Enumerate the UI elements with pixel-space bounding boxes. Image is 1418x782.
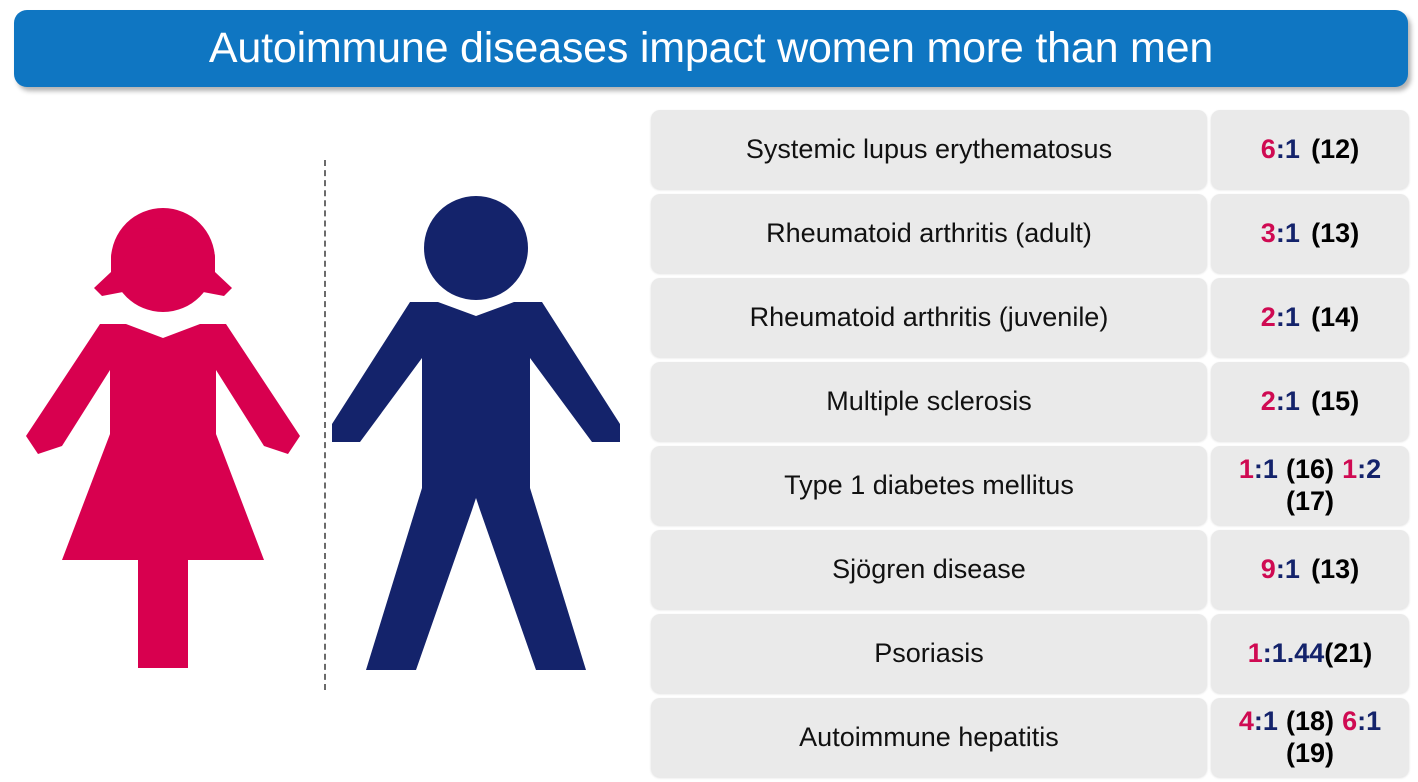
disease-label: Type 1 diabetes mellitus xyxy=(784,470,1074,501)
table-row[interactable]: Rheumatoid arthritis (juvenile) 2:1(14) xyxy=(651,278,1409,357)
disease-label: Sjögren disease xyxy=(832,554,1026,585)
female-person-icon xyxy=(18,188,308,688)
disease-name-cell[interactable]: Rheumatoid arthritis (juvenile) xyxy=(651,278,1207,357)
ratio-male-part: :1 xyxy=(1276,386,1300,416)
ratio-male-part-second: :1 xyxy=(1357,706,1381,736)
table-row[interactable]: Autoimmune hepatitis 4:1(18)6:1 (19) xyxy=(651,698,1409,777)
disease-name-cell[interactable]: Psoriasis xyxy=(651,614,1207,693)
ratio-male-part-second: :2 xyxy=(1357,454,1381,484)
ratio-male-part: :1 xyxy=(1276,134,1300,164)
ratio-male-part: :1 xyxy=(1276,554,1300,584)
ratio-value: 1:1(16)1:2 (17) xyxy=(1217,454,1403,518)
ratio-female-part-second: 1 xyxy=(1342,454,1357,484)
ratio-female-part: 1 xyxy=(1239,454,1254,484)
disease-label: Rheumatoid arthritis (juvenile) xyxy=(750,302,1109,333)
ratio-reference: (16) xyxy=(1286,454,1334,484)
disease-label: Rheumatoid arthritis (adult) xyxy=(766,218,1092,249)
ratio-female-part: 1 xyxy=(1248,638,1263,668)
male-person-icon xyxy=(326,188,626,688)
vertical-dashed-divider xyxy=(324,160,326,690)
ratio-cell[interactable]: 3:1(13) xyxy=(1211,194,1409,273)
ratio-reference: (14) xyxy=(1311,302,1359,332)
title-banner: Autoimmune diseases impact women more th… xyxy=(14,10,1408,87)
disease-name-cell[interactable]: Sjögren disease xyxy=(651,530,1207,609)
ratio-reference-second: (19) xyxy=(1286,738,1334,768)
ratio-female-part: 4 xyxy=(1239,706,1254,736)
ratio-cell[interactable]: 9:1(13) xyxy=(1211,530,1409,609)
table-row[interactable]: Systemic lupus erythematosus 6:1(12) xyxy=(651,110,1409,189)
disease-label: Psoriasis xyxy=(874,638,984,669)
disease-name-cell[interactable]: Multiple sclerosis xyxy=(651,362,1207,441)
ratio-female-part-second: 6 xyxy=(1342,706,1357,736)
ratio-male-part: :1 xyxy=(1254,454,1278,484)
table-row[interactable]: Multiple sclerosis 2:1(15) xyxy=(651,362,1409,441)
disease-name-cell[interactable]: Autoimmune hepatitis xyxy=(651,698,1207,777)
table-row[interactable]: Rheumatoid arthritis (adult) 3:1(13) xyxy=(651,194,1409,273)
ratio-male-part: :1.44 xyxy=(1263,638,1325,668)
disease-name-cell[interactable]: Type 1 diabetes mellitus xyxy=(651,446,1207,525)
ratio-reference: (21) xyxy=(1324,638,1372,668)
ratio-cell[interactable]: 2:1(15) xyxy=(1211,362,1409,441)
slide-root: Autoimmune diseases impact women more th… xyxy=(0,0,1418,782)
table-row[interactable]: Sjögren disease 9:1(13) xyxy=(651,530,1409,609)
disease-label: Autoimmune hepatitis xyxy=(799,722,1059,753)
ratio-reference-second: (17) xyxy=(1286,486,1334,516)
disease-name-cell[interactable]: Rheumatoid arthritis (adult) xyxy=(651,194,1207,273)
disease-name-cell[interactable]: Systemic lupus erythematosus xyxy=(651,110,1207,189)
ratio-value: 4:1(18)6:1 (19) xyxy=(1217,706,1403,770)
ratio-cell[interactable]: 2:1(14) xyxy=(1211,278,1409,357)
ratio-female-part: 9 xyxy=(1261,554,1276,584)
ratio-reference: (12) xyxy=(1311,134,1359,164)
ratio-female-part: 3 xyxy=(1261,218,1276,248)
table-row[interactable]: Type 1 diabetes mellitus 1:1(16)1:2 (17) xyxy=(651,446,1409,525)
ratio-male-part: :1 xyxy=(1254,706,1278,736)
ratio-value: 2:1(15) xyxy=(1217,386,1403,418)
table-row[interactable]: Psoriasis 1:1.44(21) xyxy=(651,614,1409,693)
ratio-reference: (15) xyxy=(1311,386,1359,416)
ratio-cell[interactable]: 4:1(18)6:1 (19) xyxy=(1211,698,1409,777)
ratio-value: 9:1(13) xyxy=(1217,554,1403,586)
gender-figures-panel xyxy=(0,96,648,782)
ratio-value: 2:1(14) xyxy=(1217,302,1403,334)
ratio-male-part: :1 xyxy=(1276,302,1300,332)
ratio-cell[interactable]: 1:1(16)1:2 (17) xyxy=(1211,446,1409,525)
ratio-male-part: :1 xyxy=(1276,218,1300,248)
ratio-reference: (18) xyxy=(1286,706,1334,736)
page-title: Autoimmune diseases impact women more th… xyxy=(209,27,1213,70)
disease-label: Multiple sclerosis xyxy=(826,386,1032,417)
disease-label: Systemic lupus erythematosus xyxy=(746,134,1112,165)
ratio-cell[interactable]: 1:1.44(21) xyxy=(1211,614,1409,693)
ratio-female-part: 2 xyxy=(1261,386,1276,416)
ratio-value: 1:1.44(21) xyxy=(1217,638,1403,670)
ratio-reference: (13) xyxy=(1311,218,1359,248)
ratio-female-part: 6 xyxy=(1261,134,1276,164)
ratio-female-part: 2 xyxy=(1261,302,1276,332)
ratio-value: 6:1(12) xyxy=(1217,134,1403,166)
ratio-reference: (13) xyxy=(1311,554,1359,584)
disease-ratio-table: Systemic lupus erythematosus 6:1(12) Rhe… xyxy=(651,110,1409,782)
ratio-value: 3:1(13) xyxy=(1217,218,1403,250)
ratio-cell[interactable]: 6:1(12) xyxy=(1211,110,1409,189)
